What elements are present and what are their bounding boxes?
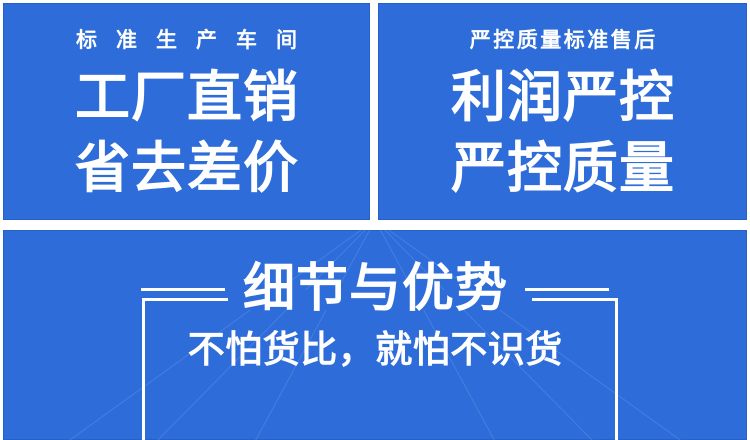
bottom-subtitle: 不怕货比，就怕不识货 xyxy=(187,331,563,368)
panel-quality-control: 严控质量标准售后 利润严控 严控质量 xyxy=(378,3,747,220)
bottom-title: 细节与优势 xyxy=(242,263,508,315)
eyebrow-text-right: 严控质量标准售后 xyxy=(467,30,658,51)
decorative-dash-right xyxy=(525,288,609,291)
bottom-title-row: 细节与优势 xyxy=(141,263,609,315)
headline-left-line2: 省去差价 xyxy=(74,141,299,196)
panel-factory-direct: 标准生产车间 工厂直销 省去差价 xyxy=(3,3,370,220)
decorative-dash-left xyxy=(141,288,225,291)
headline-right-line2: 严控质量 xyxy=(450,141,675,196)
headline-right-line1: 利润严控 xyxy=(450,70,675,125)
promo-banner: 标准生产车间 工厂直销 省去差价 严控质量标准售后 利润严控 严控质量 xyxy=(0,0,750,440)
panel-details-advantages: 细节与优势 不怕货比，就怕不识货 xyxy=(3,230,747,440)
eyebrow-text-left: 标准生产车间 xyxy=(57,30,316,51)
headline-left-line1: 工厂直销 xyxy=(74,70,299,125)
